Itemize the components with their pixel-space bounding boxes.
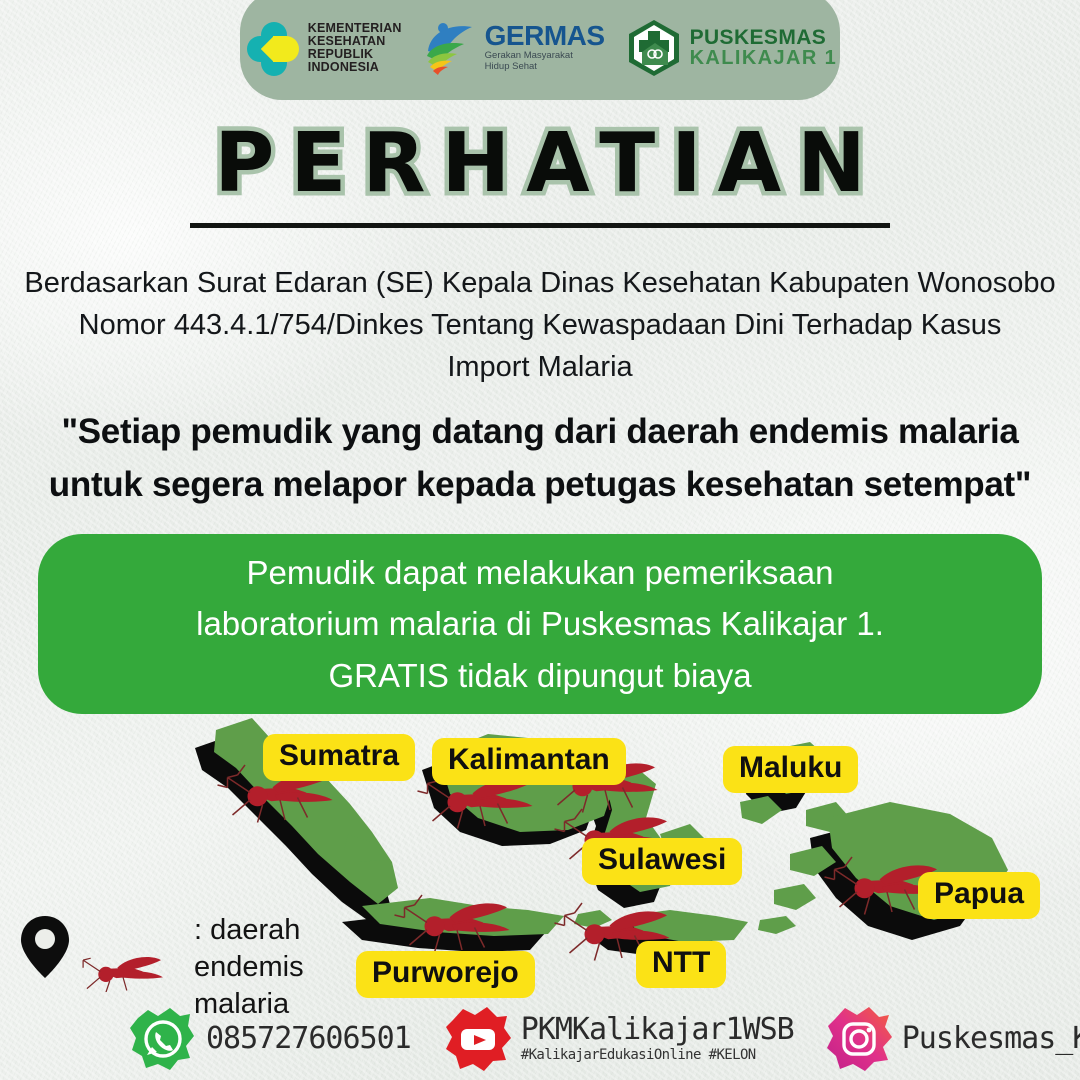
map-label-sumatra[interactable]: Sumatra	[263, 734, 415, 781]
free-lab-callout-box: Pemudik dapat melakukan pemeriksaan labo…	[38, 534, 1042, 714]
legend-mosquito-icon	[78, 938, 166, 992]
quote-line-2: untuk segera melapor kepada petugas kese…	[10, 459, 1070, 512]
germas-title: GERMAS	[485, 23, 605, 48]
germas-mark-icon	[424, 21, 476, 75]
germas-logo: GERMAS Gerakan Masyarakat Hidup Sehat	[424, 21, 605, 75]
puskesmas-logo-text: PUSKESMAS KALIKAJAR 1	[690, 28, 838, 68]
se-notice-line-2: Nomor 443.4.1/754/Dinkes Tentang Kewaspa…	[0, 304, 1080, 346]
puskesmas-hexagon-cross-icon	[627, 19, 681, 77]
se-notice-text: Berdasarkan Surat Edaran (SE) Kepala Din…	[0, 262, 1080, 388]
youtube-handle: PKMKalikajar1WSB	[521, 1015, 794, 1046]
kemenkes-mark-icon	[243, 20, 299, 76]
germas-logo-text: GERMAS Gerakan Masyarakat Hidup Sehat	[485, 23, 605, 72]
puskesmas-logo: PUSKESMAS KALIKAJAR 1	[627, 19, 838, 77]
whatsapp-icon[interactable]	[128, 1004, 198, 1074]
legend-line-1: : daerah	[194, 912, 378, 949]
title-underline	[190, 223, 890, 228]
kemenkes-logo: KEMENTERIAN KESEHATAN REPUBLIK INDONESIA	[243, 20, 402, 76]
header-logo-bar: KEMENTERIAN KESEHATAN REPUBLIK INDONESIA…	[240, 0, 840, 100]
map-label-kalimantan[interactable]: Kalimantan	[432, 738, 626, 785]
whatsapp-handle: 085727606501	[206, 1024, 411, 1055]
map-label-purworejo[interactable]: Purworejo	[356, 951, 535, 998]
map-pin-icon	[18, 914, 72, 980]
map-label-sulawesi[interactable]: Sulawesi	[582, 838, 742, 885]
instagram-handle: Puskesmas_Kalikajar1	[902, 1024, 1080, 1055]
map-label-ntt[interactable]: NTT	[636, 941, 726, 988]
social-youtube[interactable]: PKMKalikajar1WSB #KalikajarEdukasiOnline…	[443, 1004, 794, 1074]
title-block: PERHATIAN	[0, 120, 1080, 228]
germas-subtitle-2: Hidup Sehat	[485, 62, 605, 73]
social-whatsapp[interactable]: 085727606501	[128, 1004, 411, 1074]
instagram-icon[interactable]	[824, 1004, 894, 1074]
callout-line-3: GRATIS tidak dipungut biaya	[196, 650, 884, 701]
map-label-papua[interactable]: Papua	[918, 872, 1040, 919]
youtube-hashtags: #KalikajarEdukasiOnline #KELON	[521, 1047, 794, 1063]
free-lab-callout-text: Pemudik dapat melakukan pemeriksaan labo…	[156, 547, 924, 700]
poster-canvas: KEMENTERIAN KESEHATAN REPUBLIK INDONESIA…	[0, 0, 1080, 1080]
germas-subtitle-1: Gerakan Masyarakat	[485, 51, 605, 62]
callout-line-2: laboratorium malaria di Puskesmas Kalika…	[196, 598, 884, 649]
map-label-maluku[interactable]: Maluku	[723, 746, 858, 793]
callout-line-1: Pemudik dapat melakukan pemeriksaan	[196, 547, 884, 598]
kemenkes-logo-text: KEMENTERIAN KESEHATAN REPUBLIK INDONESIA	[308, 22, 402, 74]
puskesmas-line-2: KALIKAJAR 1	[690, 48, 838, 68]
se-notice-line-1: Berdasarkan Surat Edaran (SE) Kepala Din…	[0, 262, 1080, 304]
puskesmas-line-1: PUSKESMAS	[690, 28, 838, 48]
social-footer: 085727606501 PKMKalikajar1WSB #Kalikajar…	[0, 998, 1080, 1080]
social-instagram[interactable]: Puskesmas_Kalikajar1	[824, 1004, 1080, 1074]
youtube-icon[interactable]	[443, 1004, 513, 1074]
quote-line-1: "Setiap pemudik yang datang dari daerah …	[10, 406, 1070, 459]
quote-text: "Setiap pemudik yang datang dari daerah …	[10, 406, 1070, 511]
page-title: PERHATIAN	[198, 120, 882, 209]
kemenkes-line-4: INDONESIA	[308, 61, 402, 74]
se-notice-line-3: Import Malaria	[0, 346, 1080, 388]
